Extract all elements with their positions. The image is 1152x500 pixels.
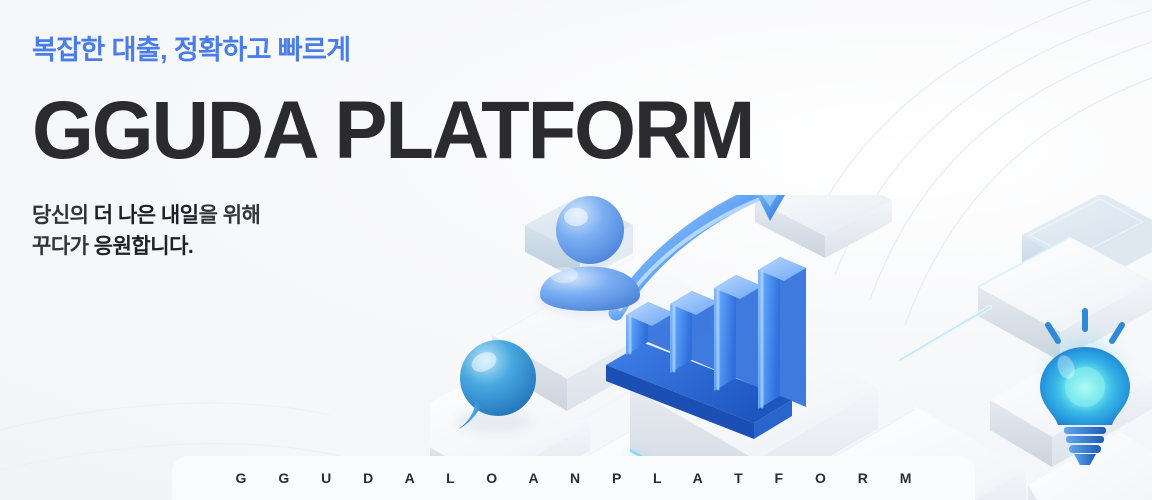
bar-3 xyxy=(714,275,762,391)
tile-far-bottom-right xyxy=(1028,432,1152,500)
lightbulb-rays xyxy=(1048,311,1122,341)
bar-1 xyxy=(626,302,674,355)
tile-avatar-platform xyxy=(492,255,710,411)
subtitle-line1-prefix: 당신의 xyxy=(32,204,94,227)
hero-subtitle-line-2: 꾸다가 응원합니다. xyxy=(32,231,776,263)
page-title: GGUDA PLATFORM xyxy=(32,92,753,170)
subtitle-line2-prefix: 꾸다가 xyxy=(32,235,94,258)
glass-slab-tile xyxy=(1022,195,1152,295)
lightbulb-3d xyxy=(1040,311,1130,465)
bar-chart-3d xyxy=(606,257,806,439)
wordmark-text: G G U D A L O A N P L A T F O R M xyxy=(222,470,926,486)
bottom-wordmark-bar: G G U D A L O A N P L A T F O R M xyxy=(172,456,975,500)
hero-subtitle: 당신의 더 나은 내일을 위해 꾸다가 응원합니다. xyxy=(32,200,776,264)
bar-4 xyxy=(758,257,806,409)
subtitle-line2-emphasis: 응원합니다. xyxy=(94,235,193,258)
subtitle-line1-emphasis: 더 나은 내일 xyxy=(94,204,199,227)
subtitle-line1-suffix: 을 위해 xyxy=(199,204,261,227)
lightbulb-base xyxy=(1064,427,1106,465)
bar-2 xyxy=(670,291,718,373)
speech-bubble-3d xyxy=(456,340,536,433)
tile-under-slab xyxy=(978,237,1152,361)
hero-subtitle-line-1: 당신의 더 나은 내일을 위해 xyxy=(32,200,776,232)
hero-text-block: 복잡한 대출, 정확하고 빠르게 GGUDA PLATFORM 당신의 더 나은… xyxy=(32,36,776,263)
tile-bulb-platform xyxy=(990,343,1152,467)
hero-tagline: 복잡한 대출, 정확하고 빠르게 xyxy=(32,36,776,66)
hero-banner: 복잡한 대출, 정확하고 빠르게 GGUDA PLATFORM 당신의 더 나은… xyxy=(0,0,1152,500)
